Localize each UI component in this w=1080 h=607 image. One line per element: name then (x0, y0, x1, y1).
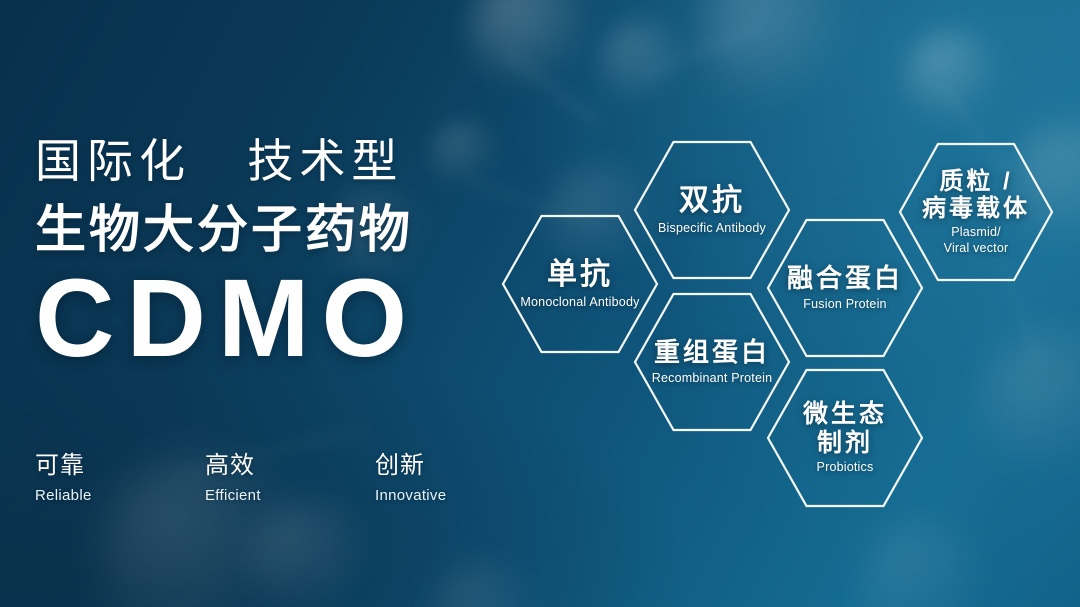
tagline-cn: 可靠 (35, 452, 205, 481)
hexagon-subtitle-en: Monoclonal Antibody (509, 295, 651, 311)
hexagon-bispecific-antibody[interactable]: 双抗Bispecific Antibody (635, 142, 789, 278)
tagline-en: Reliable (35, 487, 205, 504)
hexagon-title-cn: 双抗 (641, 184, 783, 218)
headline-block: 国际化 技术型 生物大分子药物 CDMO (35, 134, 505, 374)
tagline-en: Innovative (375, 487, 545, 504)
hexagon-label-group: 融合蛋白Fusion Protein (768, 264, 922, 312)
hexagon-subtitle-en: Bispecific Antibody (641, 221, 783, 237)
hexagon-title-cn: 融合蛋白 (774, 264, 916, 294)
hexagon-recombinant-protein[interactable]: 重组蛋白Recombinant Protein (635, 294, 789, 430)
hexagon-label-group: 重组蛋白Recombinant Protein (635, 338, 789, 386)
hexagon-fusion-protein[interactable]: 融合蛋白Fusion Protein (768, 220, 922, 356)
hexagon-label-group: 质粒 / 病毒载体Plasmid/ Viral vector (900, 168, 1052, 257)
hexagon-title-cn: 重组蛋白 (641, 338, 783, 368)
poster-canvas: 国际化 技术型 生物大分子药物 CDMO 可靠Reliable高效Efficie… (0, 0, 1080, 607)
tagline-row: 可靠Reliable高效Efficient创新Innovative (35, 452, 545, 504)
tagline-en: Efficient (205, 487, 375, 504)
hexagon-subtitle-en: Probiotics (774, 460, 916, 476)
hexagon-label-group: 双抗Bispecific Antibody (635, 184, 789, 237)
hexagon-title-cn: 质粒 / 病毒载体 (906, 168, 1046, 223)
tagline-item-reliable: 可靠Reliable (35, 452, 205, 504)
hexagon-probiotics[interactable]: 微生态 制剂Probiotics (768, 370, 922, 506)
hexagon-title-cn: 微生态 制剂 (774, 400, 916, 457)
molecule-sphere (470, 0, 590, 90)
molecule-sphere (700, 0, 850, 110)
molecule-sphere (905, 30, 1001, 126)
molecule-sphere (980, 330, 1080, 480)
hexagon-plasmid-viral-vector[interactable]: 质粒 / 病毒载体Plasmid/ Viral vector (900, 144, 1052, 280)
molecule-sphere (860, 520, 990, 607)
hexagon-title-cn: 单抗 (509, 258, 651, 292)
hexagon-label-group: 微生态 制剂Probiotics (768, 400, 922, 476)
hexagon-label-group: 单抗Monoclonal Antibody (503, 258, 657, 311)
hexagon-subtitle-en: Plasmid/ Viral vector (906, 225, 1046, 256)
molecule-sphere (250, 500, 370, 607)
headline-line-2: 生物大分子药物 (35, 202, 505, 258)
headline-line-1: 国际化 技术型 (35, 134, 505, 188)
tagline-cn: 创新 (375, 452, 545, 481)
tagline-item-efficient: 高效Efficient (205, 452, 375, 504)
headline-cdmo: CDMO (35, 264, 505, 374)
molecule-sphere (600, 20, 686, 106)
tagline-cn: 高效 (205, 452, 375, 481)
hexagon-monoclonal-antibody[interactable]: 单抗Monoclonal Antibody (503, 216, 657, 352)
hexagon-subtitle-en: Fusion Protein (774, 297, 916, 313)
molecule-sphere (430, 560, 540, 607)
hexagon-subtitle-en: Recombinant Protein (641, 371, 783, 387)
tagline-item-innovative: 创新Innovative (375, 452, 545, 504)
